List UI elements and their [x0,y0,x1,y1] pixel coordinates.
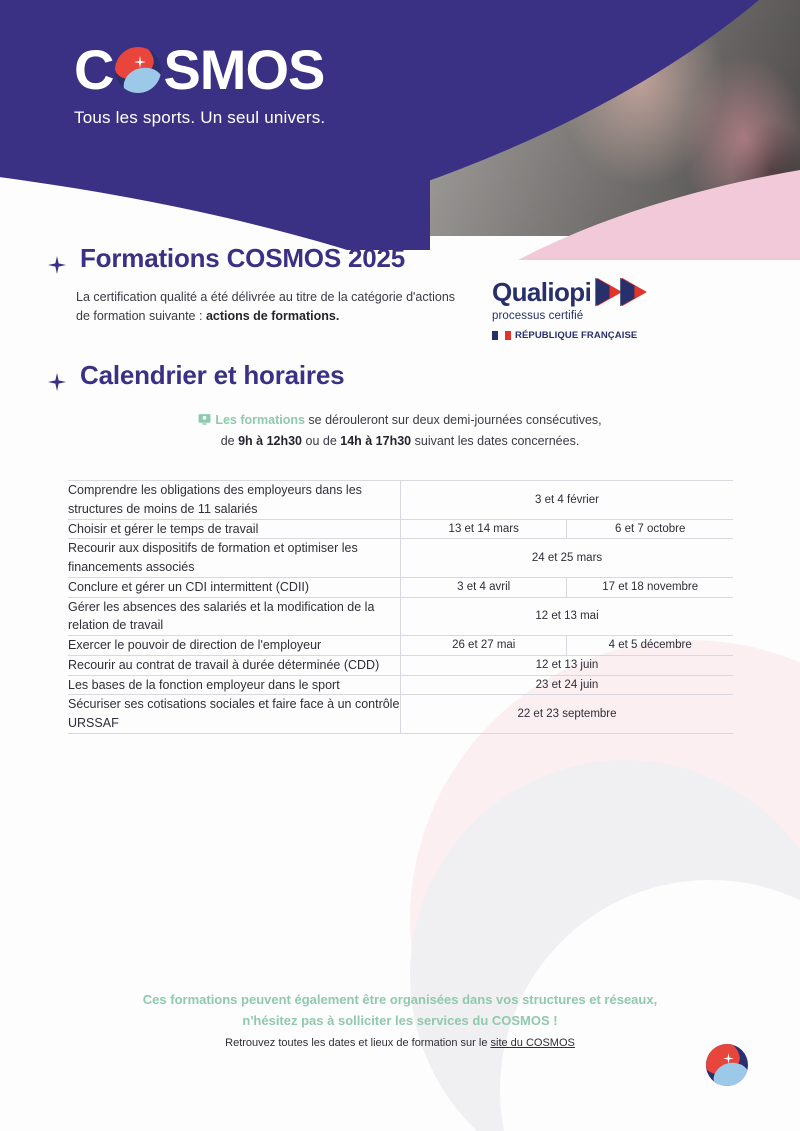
training-title-cell: Les bases de la fonction employeur dans … [68,675,400,695]
poster-page: C SMOS Tous les sports. Un seul univers. [0,0,800,1131]
training-schedule-table: Comprendre les obligations des employeur… [68,480,733,734]
brand-letter-c: C [74,42,113,98]
certification-text: La certification qualité a été délivrée … [76,288,456,327]
republique-francaise-label: RÉPUBLIQUE FRANÇAISE [515,330,637,341]
training-title-cell: Choisir et gérer le temps de travail [68,519,400,539]
training-date-cell: 3 et 4 avril [400,577,566,597]
training-date-cell: 22 et 23 septembre [400,695,733,734]
table-row: Exercer le pouvoir de direction de l'emp… [68,636,733,656]
footer-cosmos-orb-icon [706,1044,748,1086]
double-chevron-icon [595,276,649,308]
brand-wordmark: C SMOS [74,42,325,98]
table-row: Les bases de la fonction employeur dans … [68,675,733,695]
schedule-note-line2-mid: ou de [302,434,340,448]
training-title-cell: Exercer le pouvoir de direction de l'emp… [68,636,400,656]
training-title-cell: Recourir aux dispositifs de formation et… [68,539,400,578]
table-row: Choisir et gérer le temps de travail13 e… [68,519,733,539]
training-date-cell: 13 et 14 mars [400,519,566,539]
table-row: Comprendre les obligations des employeur… [68,481,733,520]
footer-link-line: Retrouvez toutes les dates et lieux de f… [100,1037,700,1049]
table-body: Comprendre les obligations des employeur… [68,481,733,734]
footer-callout: Ces formations peuvent également être or… [100,990,700,1032]
schedule-note-line2-end: suivant les dates concernées. [411,434,579,448]
training-date-cell: 12 et 13 juin [400,655,733,675]
training-title-cell: Gérer les absences des salariés et la mo… [68,597,400,636]
training-date-cell: 6 et 7 octobre [567,519,733,539]
brand-logo: C SMOS Tous les sports. Un seul univers. [74,42,325,128]
table-row: Gérer les absences des salariés et la mo… [68,597,733,636]
training-date-cell: 26 et 27 mai [400,636,566,656]
qualiopi-logo: Qualiopi processus certifié RÉPUBLIQUE [492,276,642,341]
page-title: Formations COSMOS 2025 [80,243,405,274]
training-date-cell: 4 et 5 décembre [567,636,733,656]
qualiopi-wordmark: Qualiopi [492,279,591,305]
qualiopi-row: Qualiopi [492,276,642,308]
schedule-time-afternoon: 14h à 17h30 [340,434,411,448]
brand-tagline: Tous les sports. Un seul univers. [74,108,325,128]
footer-link-prefix: Retrouvez toutes les dates et lieux de f… [225,1037,490,1049]
training-date-cell: 23 et 24 juin [400,675,733,695]
schedule-time-morning: 9h à 12h30 [238,434,302,448]
footer-callout-line-2: n'hésitez pas à solliciter les services … [100,1011,700,1032]
training-date-cell: 3 et 4 février [400,481,733,520]
table-row: Recourir aux dispositifs de formation et… [68,539,733,578]
sparkle-icon [48,250,66,268]
screen-icon [198,412,211,425]
qualiopi-subtitle: processus certifié [492,310,642,322]
section-title-formations: Formations COSMOS 2025 [48,243,405,274]
training-title-cell: Sécuriser ses cotisations sociales et fa… [68,695,400,734]
training-title-cell: Comprendre les obligations des employeur… [68,481,400,520]
training-title-cell: Recourir au contrat de travail à durée d… [68,655,400,675]
training-date-cell: 12 et 13 mai [400,597,733,636]
table-row: Sécuriser ses cotisations sociales et fa… [68,695,733,734]
training-date-cell: 17 et 18 novembre [567,577,733,597]
table-row: Conclure et gérer un CDI intermittent (C… [68,577,733,597]
republique-francaise-block: RÉPUBLIQUE FRANÇAISE [492,330,642,341]
schedule-note: Les formations se dérouleront sur deux d… [110,410,690,453]
footer-callout-line-1: Ces formations peuvent également être or… [100,990,700,1011]
cosmos-site-link[interactable]: site du COSMOS [491,1037,575,1049]
certification-line-1: La certification qualité a été délivrée … [76,290,403,304]
certification-bold: actions de formations. [206,309,339,323]
training-title-cell: Conclure et gérer un CDI intermittent (C… [68,577,400,597]
sparkle-icon [48,367,66,385]
schedule-note-highlight: Les formations [215,413,305,427]
training-date-cell: 24 et 25 mars [400,539,733,578]
schedule-note-line1: se dérouleront sur deux demi-journées co… [305,413,602,427]
schedule-note-line2-pre: de [221,434,238,448]
section-title-calendrier: Calendrier et horaires [48,360,344,391]
table-row: Recourir au contrat de travail à durée d… [68,655,733,675]
french-flag-icon [492,331,511,340]
brand-letters-smos: SMOS [163,42,324,98]
calendrier-title: Calendrier et horaires [80,360,344,391]
page-header: C SMOS Tous les sports. Un seul univers. [0,0,800,260]
cosmos-orb-icon [115,47,161,93]
